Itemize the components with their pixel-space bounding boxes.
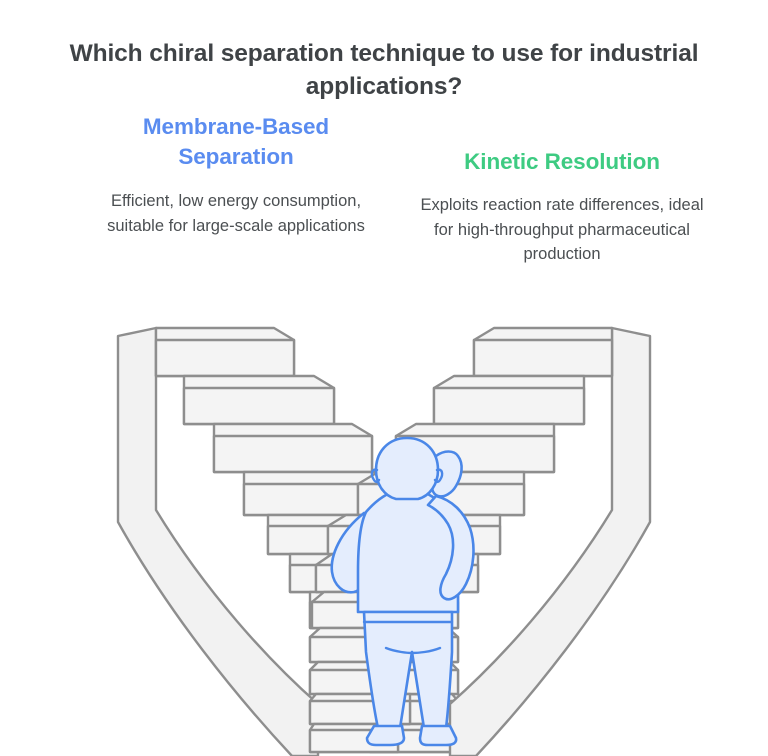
forking-staircase-svg: .sf { fill:#f4f4f4; stroke:#8e8e8e; stro… [96, 300, 672, 756]
column-heading-membrane-based-separation: Membrane-Based Separation [96, 112, 376, 172]
step-riser [474, 340, 612, 376]
column-membrane-based-separation: Membrane-Based Separation Efficient, low… [96, 112, 376, 238]
step-riser [184, 388, 334, 424]
step-riser [434, 388, 584, 424]
person-right-shoe [420, 726, 456, 745]
step-riser [214, 436, 372, 472]
forking-staircase-illustration: .sf { fill:#f4f4f4; stroke:#8e8e8e; stro… [96, 300, 672, 756]
slide-canvas: Which chiral separation technique to use… [0, 0, 768, 756]
person-head [376, 438, 438, 499]
column-body-membrane-based-separation: Efficient, low energy consumption, suita… [96, 189, 376, 239]
step-riser [156, 340, 294, 376]
person-left-shoe [367, 726, 404, 745]
column-body-kinetic-resolution: Exploits reaction rate differences, idea… [412, 193, 712, 267]
page-title: Which chiral separation technique to use… [40, 38, 728, 103]
column-kinetic-resolution: Kinetic Resolution Exploits reaction rat… [412, 112, 712, 267]
column-heading-kinetic-resolution: Kinetic Resolution [412, 112, 712, 177]
